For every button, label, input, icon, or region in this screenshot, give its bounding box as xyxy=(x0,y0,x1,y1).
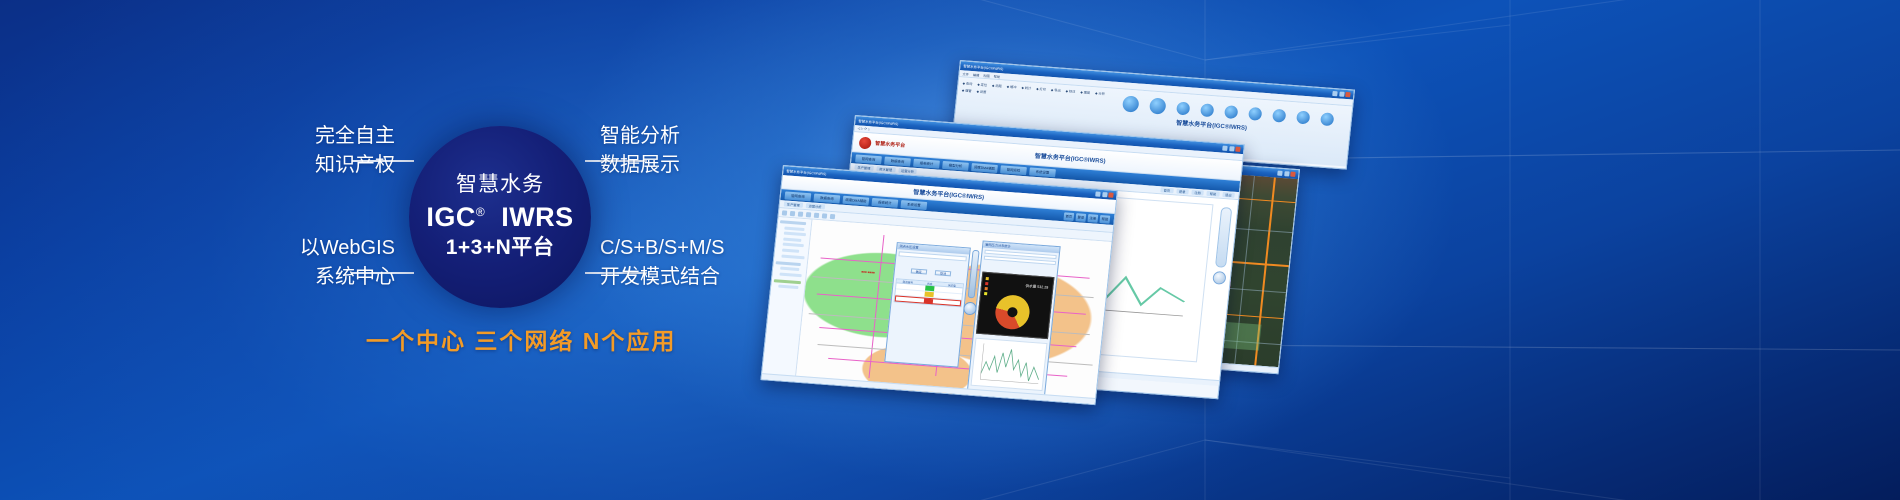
portal-title-middle: 智慧水务平台(IGC®IWRS) xyxy=(1034,151,1106,165)
nav-item-3[interactable]: 模型分析 xyxy=(942,160,969,170)
nav-item-6[interactable]: 系统设置 xyxy=(1029,167,1056,177)
window-front-gis[interactable]: 智慧水务平台(IGC®IWRS) 智慧水务平台(IGC®IWRS) 管网查询 数… xyxy=(760,165,1118,405)
feature-bottom-left: 以WebGIS 系统中心 xyxy=(200,234,395,292)
toolbar-icon-1[interactable] xyxy=(1149,97,1167,114)
gis-tool-print-icon[interactable] xyxy=(830,213,836,218)
layer-tree-item-7[interactable] xyxy=(776,261,801,266)
company-logo-icon xyxy=(859,136,872,149)
toolbar-icon-6[interactable] xyxy=(1272,109,1286,123)
window-controls-back[interactable] xyxy=(1332,91,1351,97)
front-account-0[interactable]: 首页 xyxy=(1063,212,1074,221)
pie-legend-swatch-1 xyxy=(985,282,988,285)
hub-iwrs: IWRS xyxy=(501,202,574,232)
layer-tree-item-3[interactable] xyxy=(783,237,801,241)
pressure-dialog[interactable]: 测点水压设置 确定 取消 测点编号 状态 水压值 xyxy=(884,242,971,368)
statistics-panel[interactable]: 管网压力分布统计 供水量 532.29 xyxy=(967,240,1061,396)
feature-bottom-left-line1: 以WebGIS xyxy=(300,237,395,259)
front-nav-0[interactable]: 管网查询 xyxy=(784,191,811,201)
hub-platform: 1+3+N平台 xyxy=(446,236,555,260)
front-account-3[interactable]: 帮助 xyxy=(1099,215,1110,224)
menu-item-help[interactable]: 帮助 xyxy=(993,73,1000,78)
gis-tool-zoom-in-icon[interactable] xyxy=(790,210,796,215)
menu-item-edit[interactable]: 编辑 xyxy=(973,72,980,77)
pressure-dialog-ok[interactable]: 确定 xyxy=(910,268,927,274)
pie-legend-swatch-3 xyxy=(984,292,987,295)
gis-tool-pan-icon[interactable] xyxy=(782,210,788,215)
mini-chart-svg xyxy=(972,339,1047,390)
feature-top-left-line1: 完全自主 xyxy=(315,125,395,147)
account-link-3[interactable]: 帮助 xyxy=(1207,191,1220,197)
screenshot-stack: 智慧水务平台(IGC®IWRS) 文件 编辑 视图 帮助 ◆ 查询◆ 定位 ◆ … xyxy=(795,40,1355,370)
pie-center-label: 供水量 532.29 xyxy=(1025,284,1048,291)
account-link-2[interactable]: 注册 xyxy=(1191,190,1204,196)
layer-tree-item-0[interactable] xyxy=(780,220,806,225)
front-nav-4[interactable]: 系统设置 xyxy=(900,200,927,210)
gis-tool-identify-icon[interactable] xyxy=(822,213,828,218)
nav-item-5[interactable]: 管网巡检 xyxy=(1000,165,1027,175)
account-link-0[interactable]: 首页 xyxy=(1160,187,1173,193)
toolbar-icon-8[interactable] xyxy=(1320,112,1334,126)
pie-legend-swatch-2 xyxy=(985,287,988,290)
front-subnav-0[interactable]: 生产管理 xyxy=(784,201,803,207)
layer-tree-item-1[interactable] xyxy=(784,226,804,231)
toolbar-icon-5[interactable] xyxy=(1248,107,1262,121)
feature-top-left-line2: 知识产权 xyxy=(200,151,395,180)
toolbar-icon-7[interactable] xyxy=(1296,111,1310,125)
account-link-1[interactable]: 登录 xyxy=(1176,188,1189,194)
front-nav-3[interactable]: 报表统计 xyxy=(871,197,898,207)
address-field-middle[interactable]: ◁ ▷ ⟳ ⌂ xyxy=(857,126,870,131)
front-nav-2[interactable]: 调度DMA辅助 xyxy=(842,195,869,205)
feature-bottom-right-line1: C/S+B/S+M/S xyxy=(600,237,725,259)
window-controls-satellite[interactable] xyxy=(1277,171,1296,177)
nav-item-4[interactable]: 调度DMA辅助 xyxy=(971,163,998,173)
gis-tool-zoom-out-icon[interactable] xyxy=(798,211,804,216)
nav-item-1[interactable]: 数据查询 xyxy=(884,156,911,166)
hub-circle: 智慧水务 IGC® IWRS 1+3+N平台 xyxy=(409,126,591,308)
front-subnav-1[interactable]: 运营分析 xyxy=(805,203,824,209)
layer-tree-item-10[interactable] xyxy=(774,279,801,284)
feature-top-right: 智能分析 数据展示 xyxy=(600,122,680,180)
pie-chart-panel[interactable]: 供水量 532.29 xyxy=(976,272,1055,339)
nav-item-2[interactable]: 报表统计 xyxy=(913,158,940,168)
sat-green-area-1 xyxy=(1224,322,1262,351)
tagline: 一个中心 三个网络 N个应用 xyxy=(366,322,676,356)
pan-compass-middle[interactable] xyxy=(1212,271,1226,285)
layer-tree-item-4[interactable] xyxy=(783,243,804,248)
front-account-1[interactable]: 登录 xyxy=(1075,213,1086,222)
window-controls-front[interactable] xyxy=(1095,191,1114,197)
pipe-v-0 xyxy=(868,235,884,378)
banner-root: 完全自主 知识产权 以WebGIS 系统中心 智能分析 数据展示 C/S+B/S… xyxy=(0,0,1900,500)
hub-title: 智慧水务 xyxy=(456,173,544,197)
mini-chart-panel[interactable] xyxy=(970,338,1047,391)
gis-tool-select-icon[interactable] xyxy=(806,212,812,217)
front-account-2[interactable]: 注册 xyxy=(1087,214,1098,223)
menu-item-file[interactable]: 文件 xyxy=(962,71,969,76)
feature-top-left: 完全自主 知识产权 xyxy=(200,122,395,180)
connector-bottom-left xyxy=(352,272,414,274)
pie-legend-swatch-0 xyxy=(986,277,989,280)
registered-icon: ® xyxy=(476,205,485,219)
hub-product-name: IGC® IWRS xyxy=(426,202,573,233)
toolbar-icon-0[interactable] xyxy=(1122,95,1140,112)
nav-item-0[interactable]: 管网查询 xyxy=(855,154,882,164)
layer-tree-item-11[interactable] xyxy=(778,285,798,290)
feature-bottom-right: C/S+B/S+M/S 开发模式结合 xyxy=(600,234,725,292)
pressure-dialog-cancel[interactable]: 取消 xyxy=(935,270,952,276)
zoom-slider-middle[interactable] xyxy=(1215,207,1232,268)
brand-text-middle: 智慧水务平台 xyxy=(875,140,906,149)
pie-chart[interactable] xyxy=(994,294,1032,331)
menu-item-view[interactable]: 视图 xyxy=(983,72,990,77)
connector-top-left xyxy=(352,160,414,162)
toolbar-icon-2[interactable] xyxy=(1176,102,1190,116)
front-nav-1[interactable]: 数据查询 xyxy=(813,193,840,203)
feature-bottom-left-line2: 系统中心 xyxy=(200,263,395,292)
feature-top-right-line1: 智能分析 xyxy=(600,125,680,147)
layer-tree-item-2[interactable] xyxy=(784,232,806,237)
pressure-dialog-table[interactable]: 测点编号 状态 水压值 xyxy=(894,278,965,307)
map-annotation: ■■■ ■■■■ xyxy=(861,270,875,275)
layer-tree-item-6[interactable] xyxy=(781,254,804,259)
layer-tree-item-5[interactable] xyxy=(782,249,799,253)
account-link-4[interactable]: 退出 xyxy=(1222,192,1235,198)
window-controls-middle[interactable] xyxy=(1222,146,1241,152)
feature-top-right-line2: 数据展示 xyxy=(600,151,680,180)
hub-igc: IGC xyxy=(426,202,476,232)
pie-legend xyxy=(984,277,989,297)
feature-bottom-right-line2: 开发模式结合 xyxy=(600,263,725,292)
toolbar-icon-4[interactable] xyxy=(1224,105,1238,119)
layer-tree-item-9[interactable] xyxy=(779,272,801,277)
layer-tree-item-8[interactable] xyxy=(780,267,799,271)
gis-tool-measure-icon[interactable] xyxy=(814,212,820,217)
toolbar-icon-3[interactable] xyxy=(1200,103,1214,117)
